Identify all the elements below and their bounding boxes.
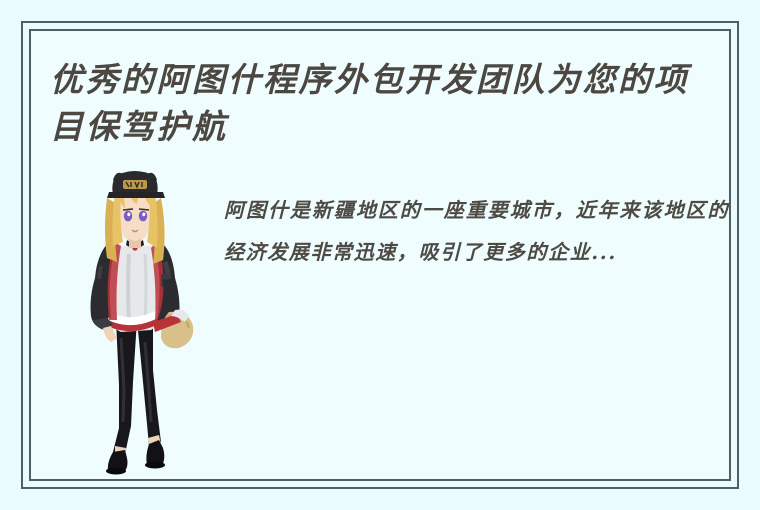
page-title: 优秀的阿图什程序外包开发团队为您的项目保驾护航 xyxy=(50,56,722,150)
figure-legs-and-boots xyxy=(106,320,165,475)
body-paragraph: 阿图什是新疆地区的一座重要城市，近年来该地区的经济发展非常迅速，吸引了更多的企业… xyxy=(224,189,729,273)
anime-girl-illustration xyxy=(69,170,199,475)
poster-content: 优秀的阿图什程序外包开发团队为您的项目保驾护航 xyxy=(31,31,729,479)
poster-canvas: 优秀的阿图什程序外包开发团队为您的项目保驾护航 xyxy=(0,0,760,510)
figure-head xyxy=(105,171,165,264)
